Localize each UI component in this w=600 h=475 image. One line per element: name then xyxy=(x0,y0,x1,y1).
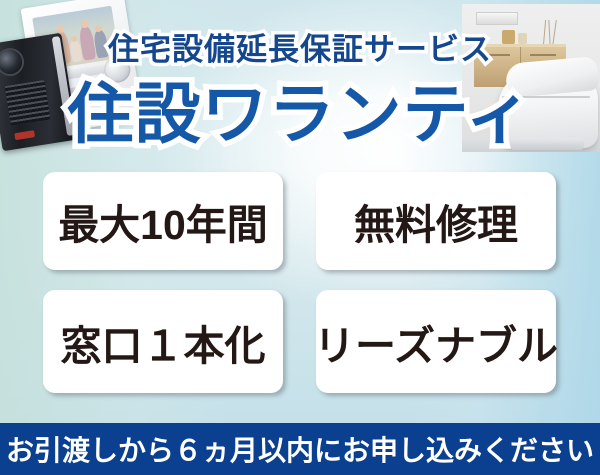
feature-grid: 最大10年間 無料修理 窓口１本化 リーズナブル xyxy=(43,172,556,393)
feature-label: 最大10年間 xyxy=(58,191,268,251)
feature-box-max-years[interactable]: 最大10年間 xyxy=(43,172,283,270)
promo-banner: 住宅設備延長保証サービス 住設ワランティ 最大10年間 無料修理 窓口１本化 リ… xyxy=(0,0,600,475)
feature-label: リーズナブル xyxy=(314,312,558,372)
feature-label: 窓口１本化 xyxy=(61,312,266,372)
feature-box-reasonable[interactable]: リーズナブル xyxy=(316,290,556,393)
feature-label: 無料修理 xyxy=(354,191,518,251)
cta-strip[interactable]: お引渡しから６ヵ月以内にお申し込みください xyxy=(0,423,600,475)
feature-box-single-contact[interactable]: 窓口１本化 xyxy=(43,290,283,393)
banner-title: 住設ワランティ xyxy=(0,61,600,157)
feature-box-free-repair[interactable]: 無料修理 xyxy=(316,172,556,270)
cta-text: お引渡しから６ヵ月以内にお申し込みください xyxy=(6,429,594,469)
